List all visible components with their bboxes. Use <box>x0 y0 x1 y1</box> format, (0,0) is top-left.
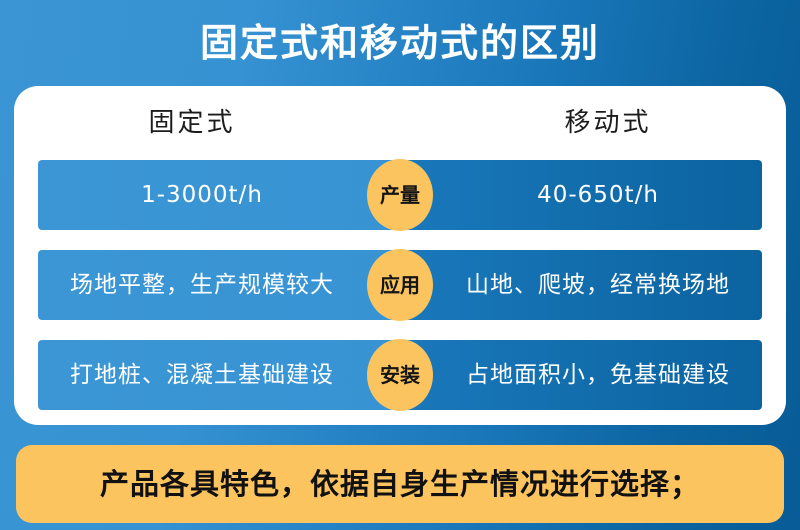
column-header-fixed: 固定式 <box>14 110 400 136</box>
row-value-left: 1-3000t/h <box>38 160 400 230</box>
comparison-card: 固定式 移动式 1-3000t/h 产量 40-650t/h 场地平整，生产规模… <box>14 86 786 425</box>
row-value-right: 40-650t/h <box>400 160 762 230</box>
comparison-rows: 1-3000t/h 产量 40-650t/h 场地平整，生产规模较大 应用 山地… <box>38 160 762 410</box>
row-badge-application: 应用 <box>367 249 433 321</box>
summary-banner: 产品各具特色，依据自身生产情况进行选择； <box>16 445 784 523</box>
row-badge-installation: 安装 <box>367 339 433 411</box>
page-title: 固定式和移动式的区别 <box>200 24 600 62</box>
column-header-mobile: 移动式 <box>400 110 786 136</box>
row-value-left: 打地桩、混凝土基础建设 <box>38 340 400 410</box>
summary-banner-text: 产品各具特色，依据自身生产情况进行选择； <box>100 470 700 499</box>
comparison-column-headers: 固定式 移动式 <box>14 86 786 160</box>
comparison-row-installation: 打地桩、混凝土基础建设 安装 占地面积小，免基础建设 <box>38 340 762 410</box>
comparison-row-capacity: 1-3000t/h 产量 40-650t/h <box>38 160 762 230</box>
title-bar: 固定式和移动式的区别 <box>0 0 800 86</box>
row-value-right: 山地、爬坡，经常换场地 <box>400 250 762 320</box>
row-value-right: 占地面积小，免基础建设 <box>400 340 762 410</box>
row-badge-capacity: 产量 <box>367 159 433 231</box>
comparison-row-application: 场地平整，生产规模较大 应用 山地、爬坡，经常换场地 <box>38 250 762 320</box>
row-value-left: 场地平整，生产规模较大 <box>38 250 400 320</box>
